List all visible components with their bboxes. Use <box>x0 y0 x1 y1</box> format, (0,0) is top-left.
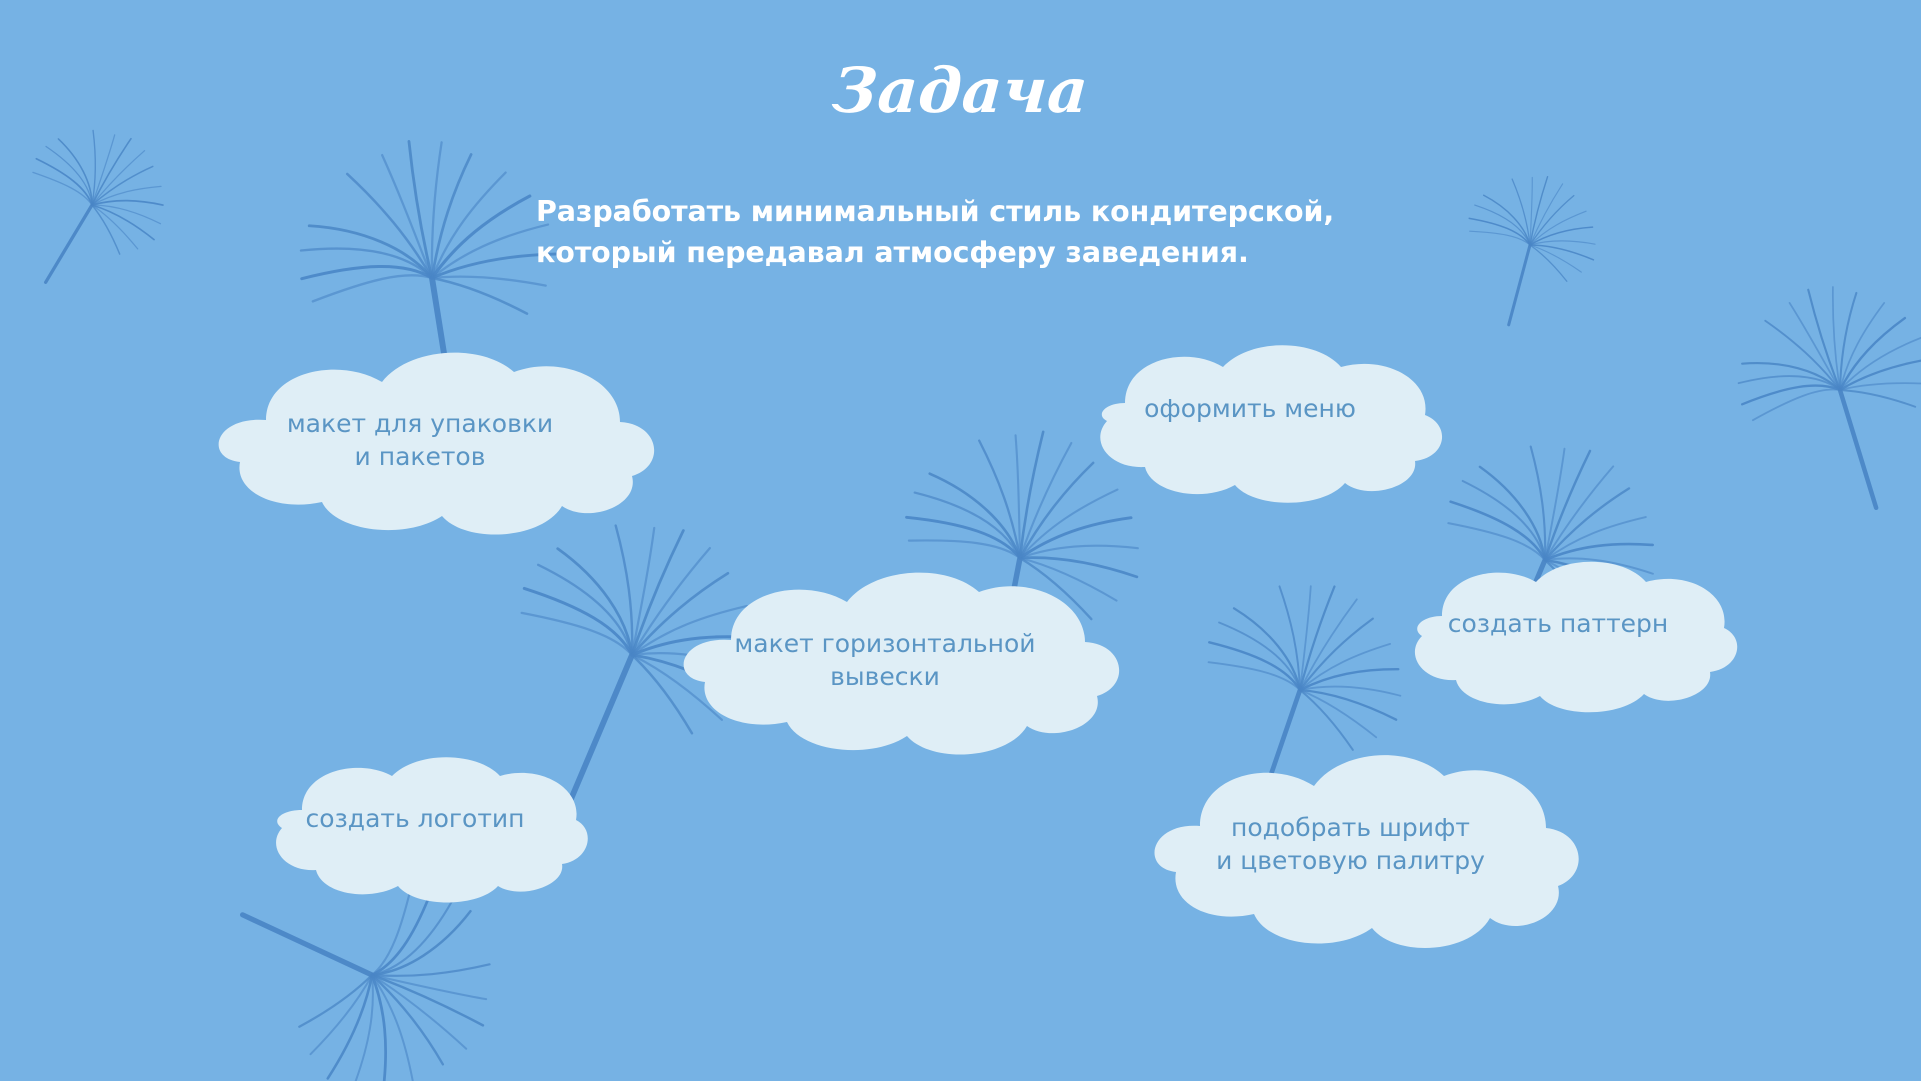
dandelion-seed-icon <box>1442 158 1614 344</box>
dandelion-decoration-layer <box>0 0 1921 1081</box>
cloud-signboard[interactable]: макет горизонтальной вывески <box>635 570 1135 760</box>
page-subtitle: Разработать минимальный стиль кондитерск… <box>536 192 1436 274</box>
cloud-typography[interactable]: подобрать шрифт и цветовую палитру <box>1108 750 1593 955</box>
cloud-pattern[interactable]: создать паттерн <box>1378 562 1738 717</box>
slide-canvas: Задача Разработать минимальный стиль кон… <box>0 0 1921 1081</box>
cloud-pattern-label: создать паттерн <box>1378 608 1738 641</box>
page-title: Задача <box>0 58 1921 123</box>
cloud-signboard-label: макет горизонтальной вывески <box>635 628 1135 693</box>
cloud-logo-label: создать логотип <box>240 803 590 836</box>
cloud-logo[interactable]: создать логотип <box>240 758 590 908</box>
cloud-menu-label: оформить меню <box>1055 393 1445 426</box>
cloud-packaging[interactable]: макет для упаковки и пакетов <box>170 350 670 540</box>
page-header: Задача <box>0 58 1921 123</box>
cloud-menu[interactable]: оформить меню <box>1055 345 1445 505</box>
dandelion-seed-icon <box>0 101 194 319</box>
dandelion-seed-icon <box>1719 265 1921 533</box>
cloud-packaging-label: макет для упаковки и пакетов <box>170 408 670 473</box>
cloud-typography-label: подобрать шрифт и цветовую палитру <box>1108 812 1593 877</box>
